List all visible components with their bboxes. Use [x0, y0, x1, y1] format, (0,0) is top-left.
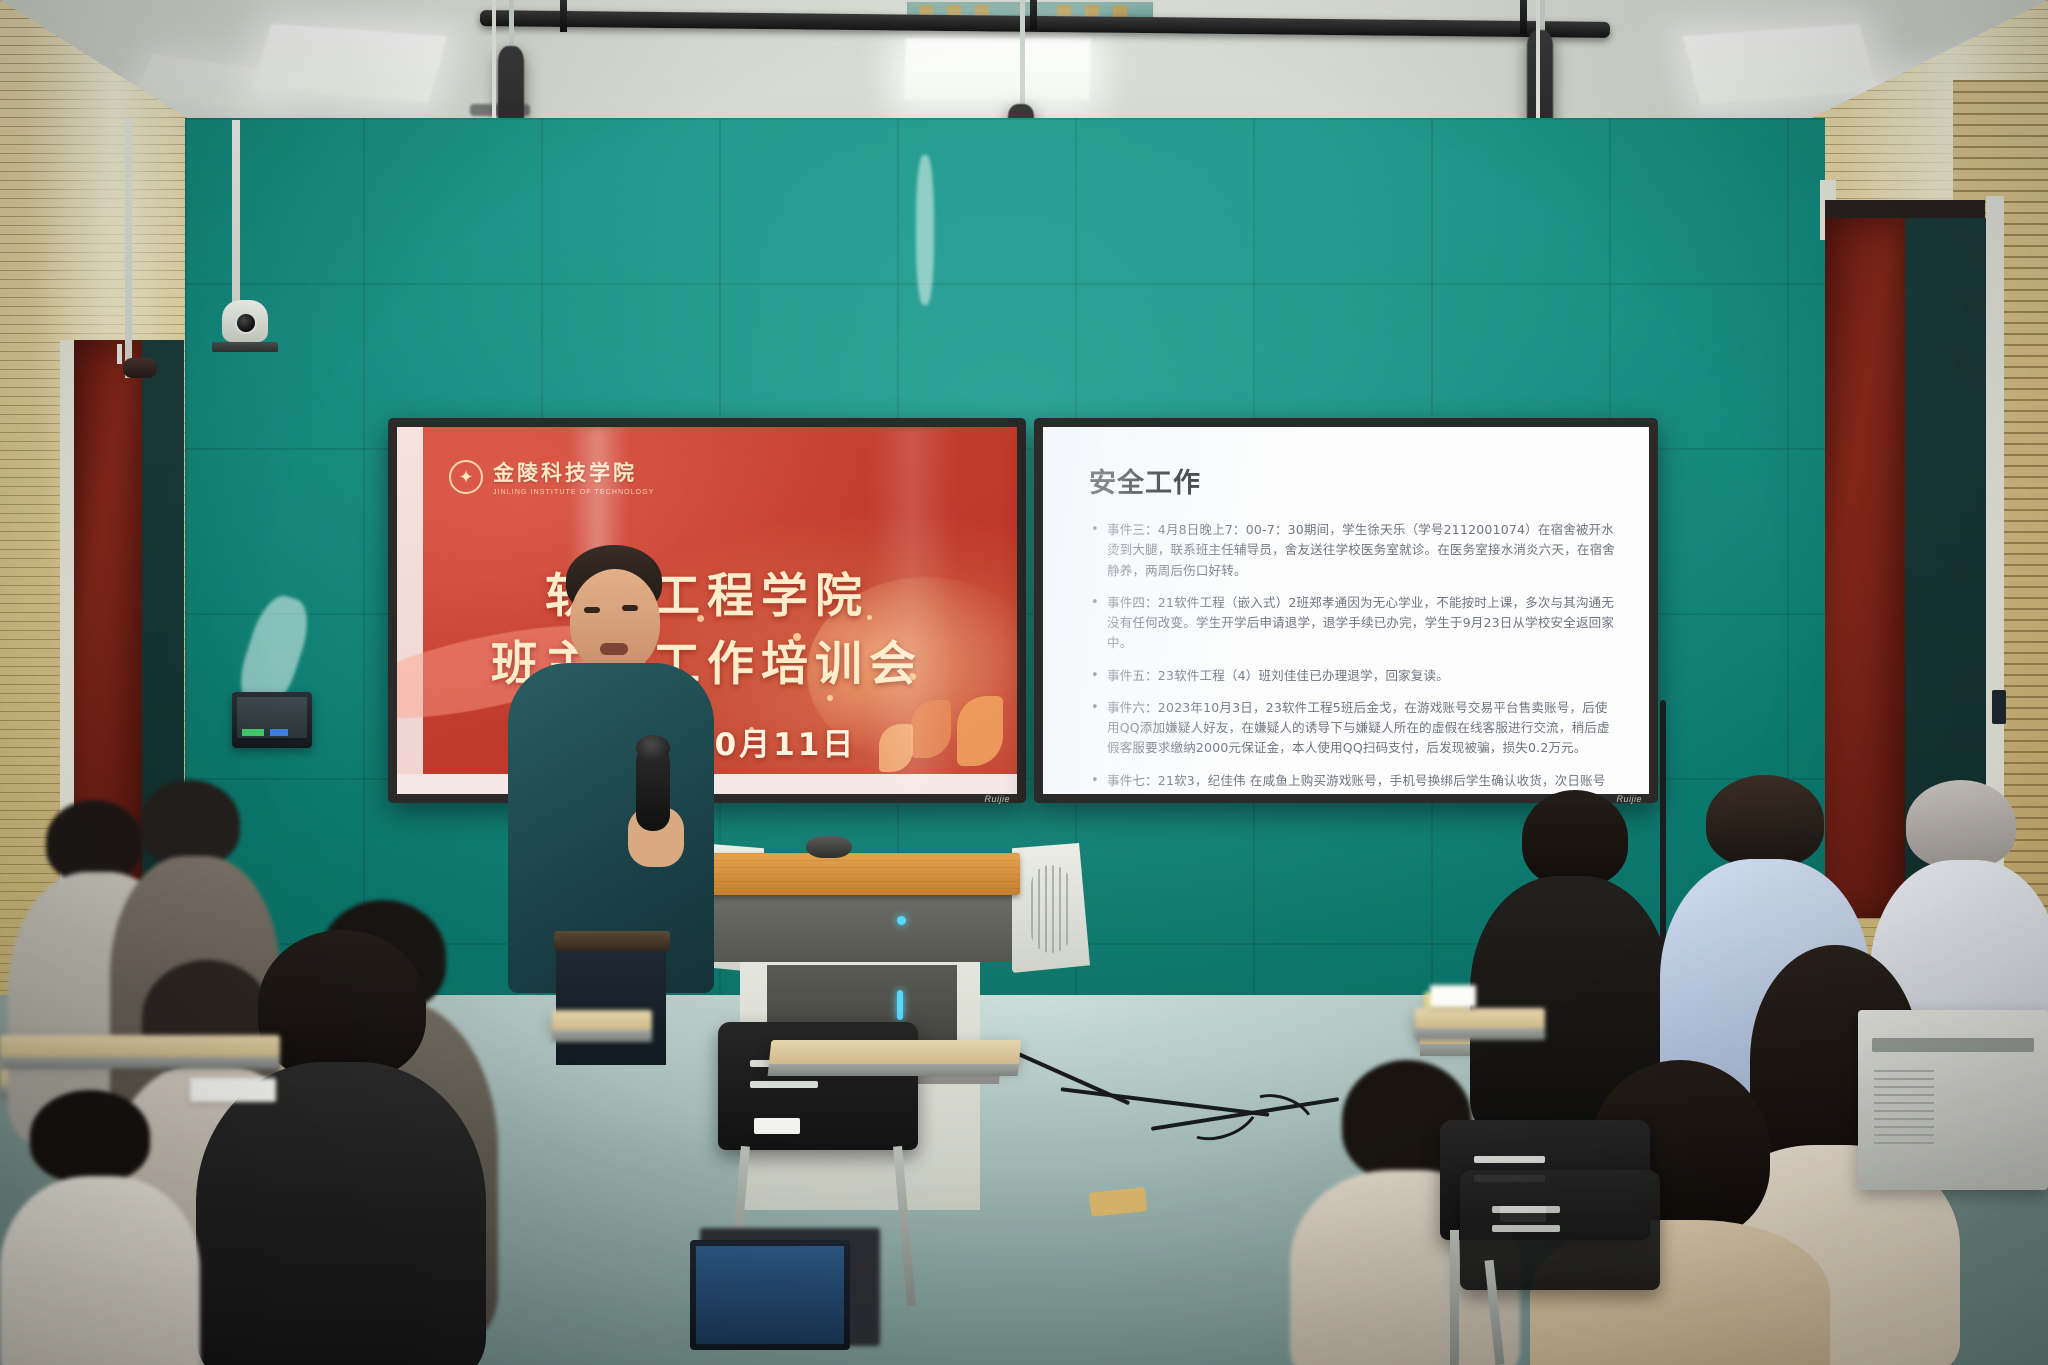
lectern-front-panel: [707, 890, 1012, 962]
lecture-room-photo: ✦ 金陵科技学院 JINLING INSTITUTE OF TECHNOLOGY…: [0, 0, 2048, 1365]
status-indicator-blue: [270, 729, 288, 736]
hair: [140, 780, 240, 866]
printer-paper-slot: [1872, 1038, 2034, 1052]
truss-drop: [560, 0, 567, 32]
microphone-head-icon: [636, 735, 670, 761]
printer-vent-icon: [1874, 1070, 1934, 1150]
ptz-camera: [212, 300, 278, 356]
camera-arm: [117, 344, 122, 364]
presenter-trousers: [556, 945, 666, 1065]
torso: [0, 1176, 200, 1365]
slide-heading: 安全工作: [1089, 461, 1615, 500]
presenter-eye: [622, 605, 638, 611]
screen-glare: [1067, 427, 1147, 794]
fan-rod: [1020, 0, 1025, 110]
laptop-screen: [696, 1246, 844, 1344]
status-indicator-green: [242, 729, 264, 736]
desk: [0, 1035, 280, 1059]
audience-member: [0, 1090, 200, 1365]
audience-member: [196, 930, 486, 1365]
bullet-list: 事件三：4月8日晚上7：00-7：30期间，学生徐天乐（学号2112001074…: [1089, 520, 1615, 794]
torso: [196, 1062, 486, 1365]
fan-blade: [470, 104, 530, 116]
presenter-head: [570, 569, 660, 673]
camera-shelf: [212, 342, 278, 352]
lectern-wood-top: [700, 853, 1020, 895]
asset-tag: [754, 1118, 800, 1134]
office-printer[interactable]: [1858, 1010, 2048, 1190]
confetti-dot: [827, 695, 833, 701]
paper-sheet: [190, 1078, 276, 1102]
desk: [769, 1040, 1022, 1066]
presenter-belt: [554, 931, 670, 951]
right-display-screen: 安全工作 事件三：4月8日晚上7：00-7：30期间，学生徐天乐（学号21120…: [1043, 427, 1649, 794]
computer-mouse[interactable]: [806, 836, 852, 858]
lectern-right-speaker: [1012, 843, 1090, 973]
display-brand-label: Ruijie: [984, 794, 1010, 804]
wall-reflection: [916, 155, 934, 305]
bullet-item: 事件四：21软件工程（嵌入式）2班郑孝通因为无心学业，不能按时上课，多次与其沟通…: [1089, 593, 1615, 654]
bullet-item: 事件五：23软件工程（4）班刘佳佳已办理退学，回家复读。: [1089, 666, 1615, 686]
screen-glare: [867, 427, 957, 794]
hair: [30, 1090, 150, 1182]
ceiling-panel-light: [904, 38, 1091, 100]
chair-leg: [1450, 1230, 1459, 1365]
truss-drop: [1520, 0, 1527, 34]
right-display[interactable]: 安全工作 事件三：4月8日晚上7：00-7：30期间，学生徐天乐（学号21120…: [1034, 418, 1658, 803]
university-crest-icon: ✦: [449, 460, 483, 494]
bullet-item: 事件六：2023年10月3日，23软件工程5班后金戈，在游戏账号交易平台售卖账号…: [1089, 698, 1615, 759]
camera-mount-pole: [232, 120, 240, 302]
presenter-mouth: [600, 643, 628, 655]
ceiling-panel-light: [1683, 24, 1878, 105]
security-camera-body: [123, 358, 157, 378]
fan-rod: [509, 0, 514, 52]
hair: [258, 930, 426, 1080]
presenter-eye: [584, 607, 600, 613]
speaker-grille-icon: [1031, 865, 1071, 953]
door-access-panel[interactable]: [1992, 690, 2006, 724]
wall-mount-pole: [125, 118, 132, 378]
hair: [1706, 775, 1824, 867]
wall-control-panel[interactable]: [232, 692, 312, 748]
paper-sheet: [1430, 985, 1476, 1007]
hair: [1522, 790, 1628, 886]
desk: [1415, 1008, 1545, 1030]
door-header: [1825, 200, 1985, 220]
truss-drop: [1030, 0, 1037, 30]
power-indicator-icon: [897, 916, 906, 925]
lectern-lock-icon: [897, 990, 903, 1020]
laptop[interactable]: [690, 1240, 850, 1350]
camera-lens-icon: [235, 312, 257, 334]
antenna-icon: [232, 692, 234, 696]
bullet-item: 事件三：4月8日晚上7：00-7：30期间，学生徐天乐（学号2112001074…: [1089, 520, 1615, 581]
desk: [552, 1010, 652, 1032]
security-camera: [117, 358, 157, 380]
hair: [1906, 780, 2016, 868]
